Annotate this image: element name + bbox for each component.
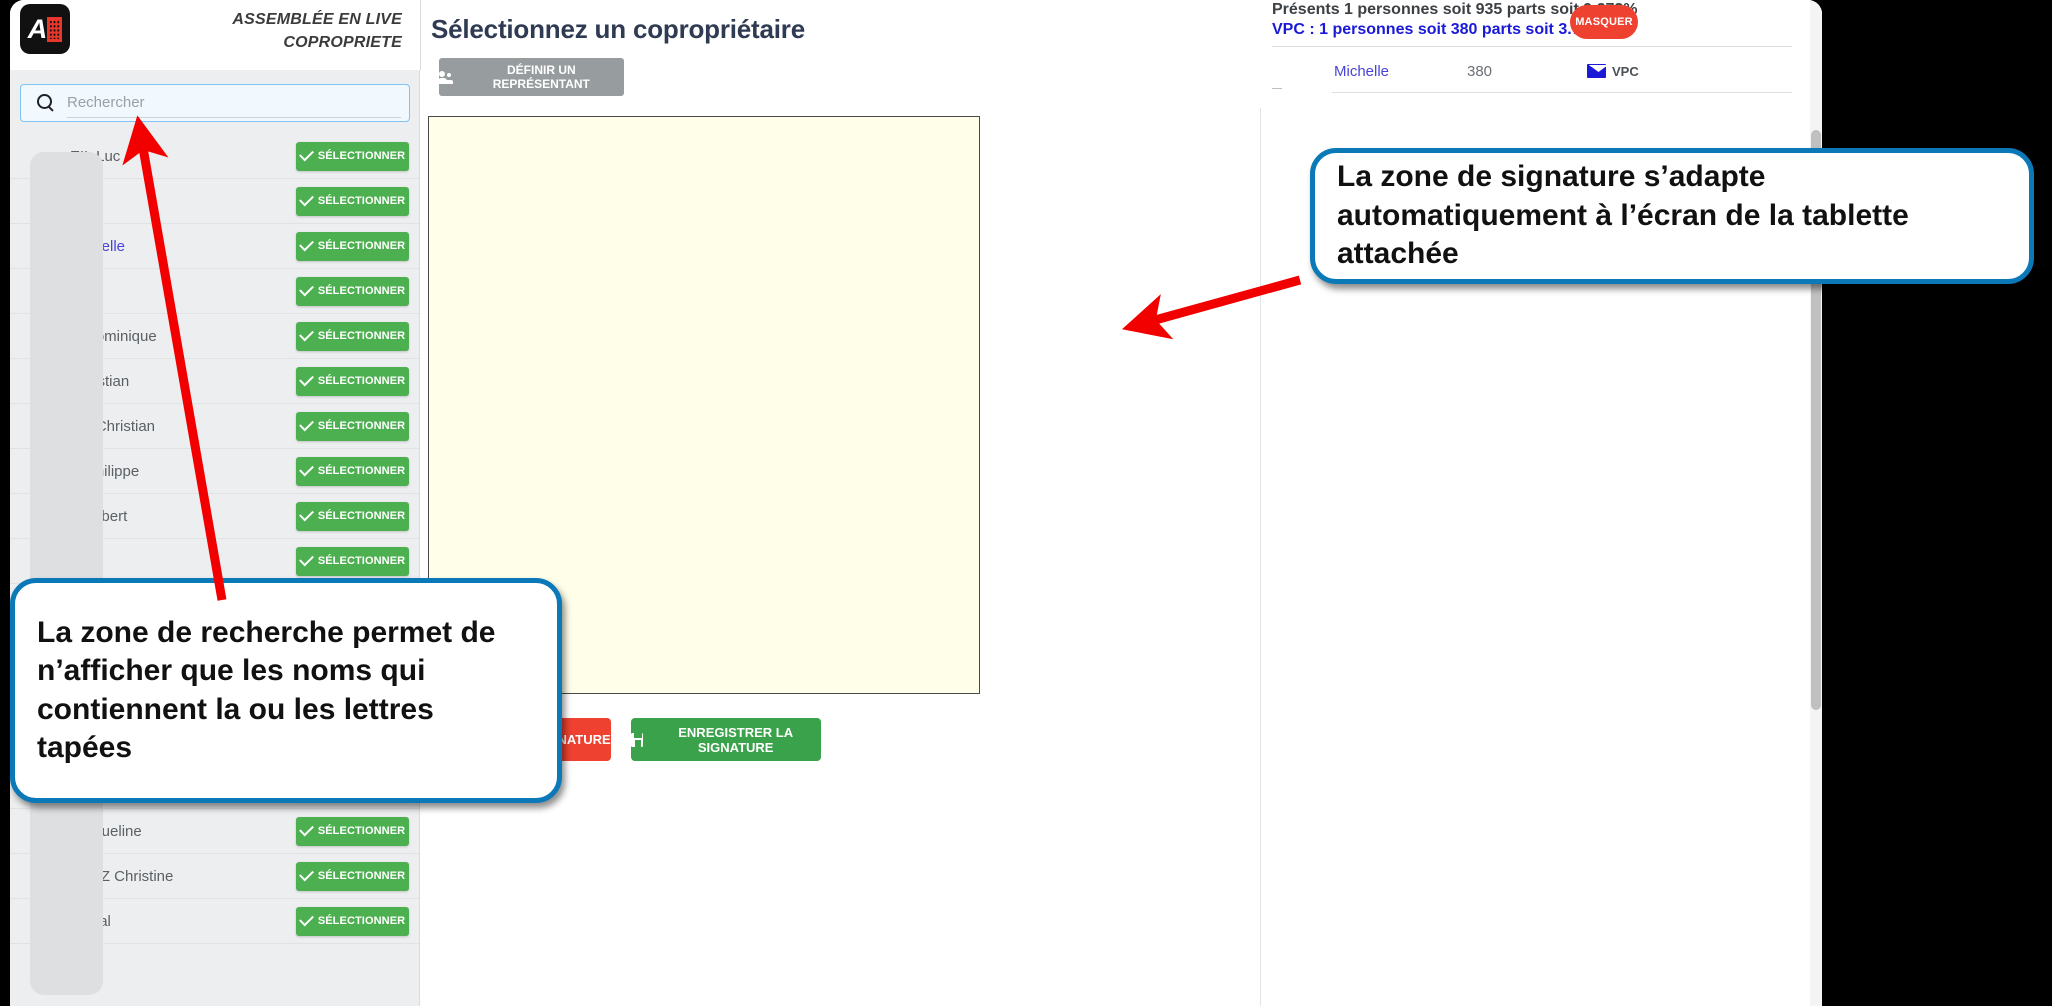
check-icon [299,327,314,342]
stat-vpc: VPC : 1 personnes soit 380 parts soit 3.… [1272,21,1613,39]
callout-search-text: La zone de recherche permet de n’affiche… [15,614,557,768]
owner-name: RD Christian [70,418,296,435]
divider-stub [1272,88,1282,89]
check-icon [299,507,314,522]
search-icon [35,92,57,114]
callout-signature-note: La zone de signature s’adapte automatiqu… [1310,148,2034,284]
attendee-name: Michelle [1272,63,1467,80]
owner-name: T Gilbert [70,508,296,525]
owner-row[interactable]: N DominiqueSÉLECTIONNER [10,314,419,359]
select-owner-label: SÉLECTIONNER [318,150,405,162]
owner-sidebar: EIL LucSÉLECTIONNERnneSÉLECTIONNERMichel… [10,70,420,1006]
select-owner-button[interactable]: SÉLECTIONNER [296,277,409,306]
select-owner-button[interactable]: SÉLECTIONNER [296,907,409,936]
owner-row[interactable]: ylvieSÉLECTIONNER [10,269,419,314]
define-representative-button[interactable]: DÉFINIR UN REPRÉSENTANT [439,58,624,96]
check-icon [299,552,314,567]
owner-name: hantal [70,913,296,930]
owner-name: Jacqueline [70,823,296,840]
building-icon [47,17,62,42]
check-icon [299,192,314,207]
owner-name: EREZ Christine [70,868,296,885]
check-icon [299,867,314,882]
owner-name: O Philippe [70,463,296,480]
owner-row[interactable]: hantalSÉLECTIONNER [10,899,419,944]
select-owner-button[interactable]: SÉLECTIONNER [296,502,409,531]
check-icon [299,147,314,162]
select-owner-button[interactable]: SÉLECTIONNER [296,367,409,396]
select-owner-button[interactable]: SÉLECTIONNER [296,862,409,891]
owner-name: N Dominique [70,328,296,345]
brand-zone: A ASSEMBLÉE EN LIVE COPROPRIETE [10,0,420,70]
signature-panel: DÉFINIR UN REPRÉSENTANT EFFACER LA SIGNA… [420,70,1260,1006]
brand-line-1: ASSEMBLÉE EN LIVE [232,8,402,31]
select-owner-label: SÉLECTIONNER [318,915,405,927]
select-owner-label: SÉLECTIONNER [318,870,405,882]
owner-name: EIL Luc [70,148,296,165]
envelope-icon [1587,64,1606,78]
check-icon [299,237,314,252]
select-owner-label: SÉLECTIONNER [318,330,405,342]
floppy-disk-icon [631,733,643,747]
select-owner-button[interactable]: SÉLECTIONNER [296,322,409,351]
search-input[interactable] [67,88,401,118]
select-owner-button[interactable]: SÉLECTIONNER [296,547,409,576]
brand-line-2: COPROPRIETE [232,31,402,54]
app-logo-icon: A [20,4,70,54]
owner-row[interactable]: ChristianSÉLECTIONNER [10,359,419,404]
callout-search-note: La zone de recherche permet de n’affiche… [10,578,562,803]
select-owner-label: SÉLECTIONNER [318,465,405,477]
owner-name: nne [70,193,296,210]
check-icon [299,462,314,477]
callout-signature-text: La zone de signature s’adapte automatiqu… [1315,158,2029,273]
select-owner-label: SÉLECTIONNER [318,375,405,387]
define-representative-label: DÉFINIR UN REPRÉSENTANT [459,63,624,91]
logo-letter: A [28,16,47,43]
check-icon [299,372,314,387]
people-icon [439,71,455,84]
owner-row[interactable]: EREZ ChristineSÉLECTIONNER [10,854,419,899]
owner-row[interactable]: MichelleSÉLECTIONNER [10,224,419,269]
attendance-summary-panel: Présents 1 personnes soit 935 parts soit… [1260,0,1822,108]
search-box[interactable] [20,84,410,122]
owner-row[interactable]: O PhilippeSÉLECTIONNER [10,449,419,494]
owner-row[interactable]: nneSÉLECTIONNER [10,179,419,224]
select-owner-label: SÉLECTIONNER [318,240,405,252]
brand-title: ASSEMBLÉE EN LIVE COPROPRIETE [232,8,402,54]
select-owner-button[interactable]: SÉLECTIONNER [296,457,409,486]
select-owner-label: SÉLECTIONNER [318,825,405,837]
attendee-parts: 380 [1467,63,1587,80]
select-owner-label: SÉLECTIONNER [318,285,405,297]
select-owner-label: SÉLECTIONNER [318,555,405,567]
page-title: Sélectionnez un copropriétaire [431,14,805,45]
check-icon [299,417,314,432]
attendee-flag: VPC [1587,64,1639,79]
select-owner-button[interactable]: SÉLECTIONNER [296,232,409,261]
check-icon [299,282,314,297]
attendee-flag-label: VPC [1612,64,1639,79]
select-owner-button[interactable]: SÉLECTIONNER [296,412,409,441]
owner-row[interactable]: T GilbertSÉLECTIONNER [10,494,419,539]
attendee-row: Michelle 380 VPC [1272,50,1792,92]
screenshot-root: A ASSEMBLÉE EN LIVE COPROPRIETE Sélectio… [0,0,2052,1006]
save-signature-button[interactable]: ENREGISTRER LA SIGNATURE [631,718,821,761]
check-icon [299,822,314,837]
owner-name: Christian [70,373,296,390]
check-icon [299,912,314,927]
divider-2 [1332,92,1792,93]
select-owner-button[interactable]: SÉLECTIONNER [296,187,409,216]
select-owner-label: SÉLECTIONNER [318,510,405,522]
select-owner-label: SÉLECTIONNER [318,420,405,432]
owner-name: ylvie [70,283,296,300]
select-owner-label: SÉLECTIONNER [318,195,405,207]
owner-row[interactable]: JacquelineSÉLECTIONNER [10,809,419,854]
select-owner-button[interactable]: SÉLECTIONNER [296,142,409,171]
owner-row[interactable]: EIL LucSÉLECTIONNER [10,134,419,179]
owner-name: Michelle [70,238,296,255]
divider [1272,46,1792,47]
masquer-button[interactable]: MASQUER [1570,5,1638,39]
save-signature-label: ENREGISTRER LA SIGNATURE [650,725,821,755]
select-owner-button[interactable]: SÉLECTIONNER [296,817,409,846]
owner-list[interactable]: EIL LucSÉLECTIONNERnneSÉLECTIONNERMichel… [10,134,419,1006]
owner-row[interactable]: RD ChristianSÉLECTIONNER [10,404,419,449]
